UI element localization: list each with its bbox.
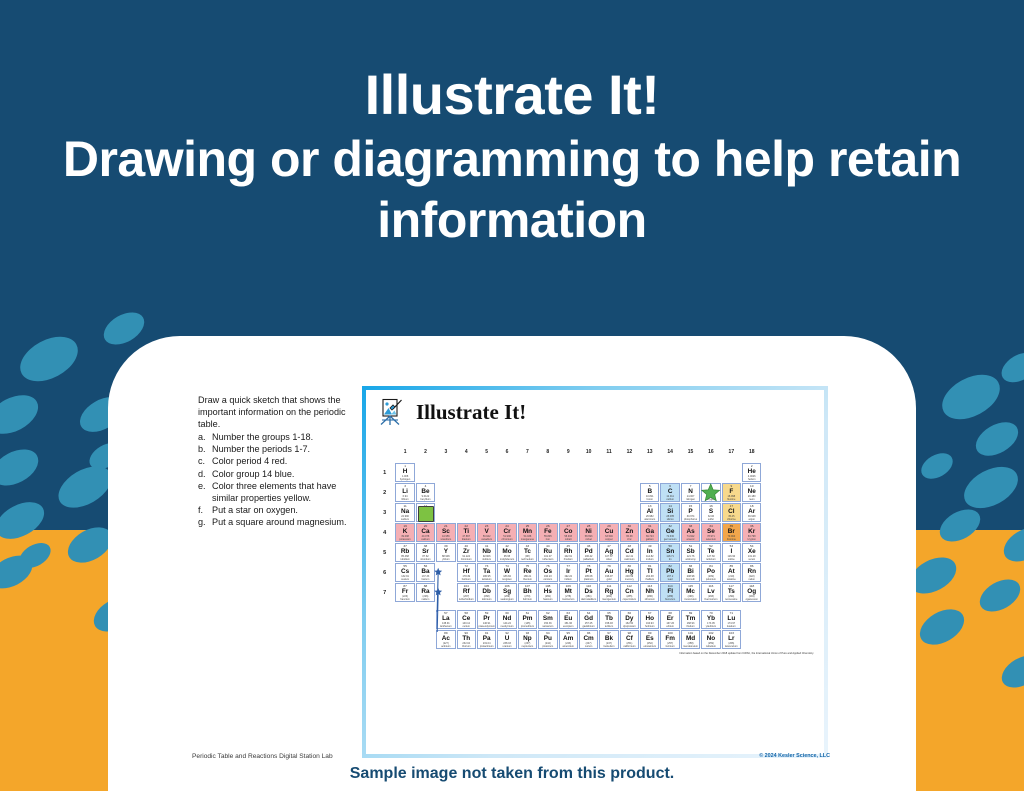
element-name: neptunium xyxy=(519,646,536,649)
instruction-marker: b. xyxy=(198,443,212,455)
oxygen-green-star xyxy=(701,483,720,502)
document-footer: Periodic Table and Reactions Digital Sta… xyxy=(192,750,832,762)
instruction-item: c.Color period 4 red. xyxy=(198,455,347,467)
instruction-item: d.Color group 14 blue. xyxy=(198,468,347,480)
element-name: protactinium xyxy=(478,646,495,649)
instruction-text: Color three elements that have similar p… xyxy=(212,480,347,504)
instruction-marker: f. xyxy=(198,504,212,516)
instruction-text: Color period 4 red. xyxy=(212,455,347,467)
instruction-item: f.Put a star on oxygen. xyxy=(198,504,347,516)
illustrate-panel: Illustrate It! 1234567891011121314151617… xyxy=(362,386,828,758)
instructions-list: a.Number the groups 1-18.b.Number the pe… xyxy=(198,431,347,528)
element-name: fermium xyxy=(661,646,678,649)
lanthanide-actinide-arrows xyxy=(374,442,774,642)
instruction-marker: c. xyxy=(198,455,212,467)
page-title: Illustrate It! xyxy=(0,66,1024,123)
element-name: nobelium xyxy=(702,646,719,649)
instruction-marker: g. xyxy=(198,516,212,528)
page-subtitle: Drawing or diagramming to help retain in… xyxy=(0,129,1024,251)
instruction-text: Put a square around magnesium. xyxy=(212,516,347,528)
footer-copyright: © 2024 Kesler Science, LLC xyxy=(759,753,832,759)
instruction-text: Number the periods 1-7. xyxy=(212,443,347,455)
element-name: americium xyxy=(560,646,577,649)
instruction-text: Color group 14 blue. xyxy=(212,468,347,480)
element-name: curium xyxy=(580,646,597,649)
instructions-panel: Draw a quick sketch that shows the impor… xyxy=(192,386,357,758)
element-name: uranium xyxy=(498,646,515,649)
instruction-text: Number the groups 1-18. xyxy=(212,431,347,443)
element-name: plutonium xyxy=(539,646,556,649)
element-name: californium xyxy=(621,646,638,649)
instruction-marker: e. xyxy=(198,480,212,504)
instruction-text: Put a star on oxygen. xyxy=(212,504,347,516)
instruction-item: e.Color three elements that have similar… xyxy=(198,480,347,504)
instruction-marker: d. xyxy=(198,468,212,480)
sample-image-note: Sample image not taken from this product… xyxy=(0,765,1024,783)
element-name: einsteinium xyxy=(641,646,658,649)
panel-header: Illustrate It! xyxy=(366,390,824,426)
element-name: lawrencium xyxy=(723,646,740,649)
footer-left-text: Periodic Table and Reactions Digital Sta… xyxy=(192,753,333,760)
instructions-intro: Draw a quick sketch that shows the impor… xyxy=(198,394,347,430)
periodic-table-source-note: Information based on the December 2018 u… xyxy=(679,652,814,655)
magnesium-green-square xyxy=(418,506,434,522)
element-name: mendelevium xyxy=(682,646,699,649)
element-name: actinium xyxy=(437,646,454,649)
element-name: thorium xyxy=(458,646,475,649)
periodic-table-wrapper: 12345678910111213141516171811H1.008hydro… xyxy=(374,442,818,650)
document-preview: Draw a quick sketch that shows the impor… xyxy=(192,386,832,758)
easel-paintbrush-icon xyxy=(378,398,404,426)
title-block: Illustrate It! Drawing or diagramming to… xyxy=(0,66,1024,251)
instruction-item: b.Number the periods 1-7. xyxy=(198,443,347,455)
element-name: berkelium xyxy=(600,646,617,649)
instruction-marker: a. xyxy=(198,431,212,443)
instruction-item: g.Put a square around magnesium. xyxy=(198,516,347,528)
instruction-item: a.Number the groups 1-18. xyxy=(198,431,347,443)
panel-title: Illustrate It! xyxy=(416,400,526,425)
